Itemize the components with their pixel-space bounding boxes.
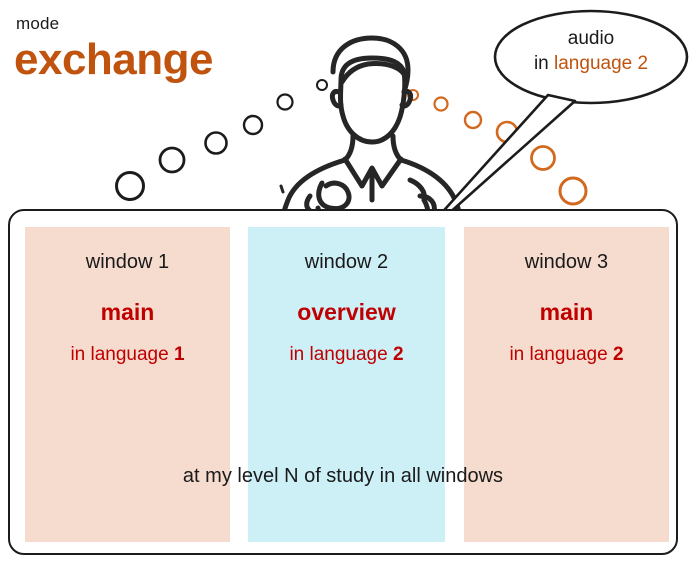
speech-bubble-line2-prefix: in	[534, 53, 554, 74]
window-panel-1[interactable]: window 1 main in language 1	[25, 227, 230, 542]
page-title: exchange	[14, 38, 213, 82]
window-2-language-number: 2	[393, 344, 404, 365]
window-1-title: window 1	[25, 251, 230, 274]
window-panel-3[interactable]: window 3 main in language 2	[464, 227, 669, 542]
mode-kicker: mode	[16, 14, 59, 34]
window-2-language-prefix: in language	[289, 344, 393, 365]
window-panel-2[interactable]: window 2 overview in language 2	[248, 227, 445, 542]
window-3-mode: main	[464, 299, 669, 326]
window-3-language: in language 2	[464, 344, 669, 366]
window-1-mode: main	[25, 299, 230, 326]
window-1-language-number: 1	[174, 344, 185, 365]
speech-bubble-line2: in language 2	[498, 51, 684, 76]
window-1-language-prefix: in language	[70, 344, 174, 365]
window-2-title: window 2	[248, 251, 445, 274]
speech-bubble-line2-highlight: language 2	[554, 53, 648, 74]
window-1-language: in language 1	[25, 344, 230, 366]
window-3-language-number: 2	[613, 344, 624, 365]
diagram-canvas: mode exchange	[0, 0, 694, 564]
window-2-mode: overview	[248, 299, 445, 326]
footnote-text: at my level N of study in all windows	[8, 465, 678, 488]
speech-bubble-line1: audio	[498, 26, 684, 51]
speech-bubble-text: audio in language 2	[498, 26, 684, 76]
window-3-title: window 3	[464, 251, 669, 274]
window-2-language: in language 2	[248, 344, 445, 366]
black-circle-trail	[117, 80, 328, 200]
orange-circle-trail	[408, 90, 586, 204]
window-3-language-prefix: in language	[509, 344, 613, 365]
